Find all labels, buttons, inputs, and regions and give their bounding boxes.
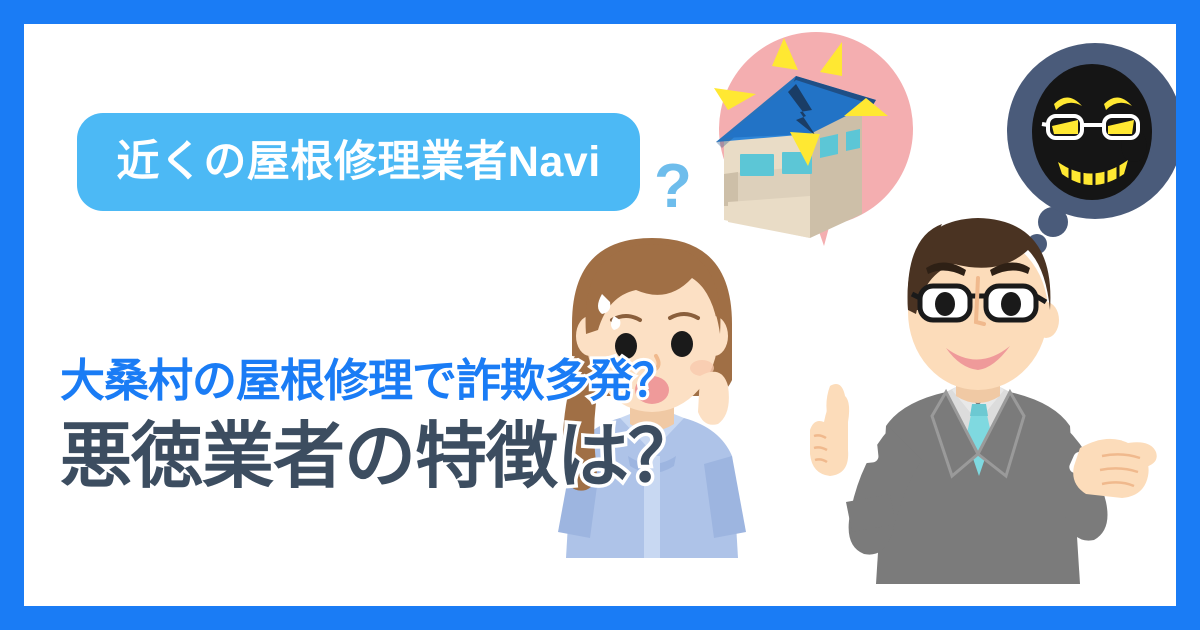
house-icon <box>714 38 888 238</box>
thumbnail-canvas: 近くの屋根修理業者Navi ? 大桑村の屋根修理で詐欺多発？ 悪徳業者の特徴は？ <box>0 0 1200 630</box>
site-badge[interactable]: 近くの屋根修理業者Navi <box>77 113 640 211</box>
explaining-businessman <box>810 218 1157 584</box>
headline-block: 大桑村の屋根修理で詐欺多発？ 悪徳業者の特徴は？ <box>60 356 820 495</box>
content-panel: 近くの屋根修理業者Navi ? 大桑村の屋根修理で詐欺多発？ 悪徳業者の特徴は？ <box>24 24 1176 606</box>
site-badge-label: 近くの屋根修理業者Navi <box>116 141 600 184</box>
background-illustration-layer <box>24 24 1176 606</box>
question-mark-decoration: ? <box>654 156 692 218</box>
shady-face-icon <box>1032 64 1152 200</box>
damaged-house-speech-bubble <box>714 32 913 246</box>
headline-title: 悪徳業者の特徴は？ <box>60 420 820 496</box>
headline-subtitle: 大桑村の屋根修理で詐欺多発？ <box>60 356 820 406</box>
glasses-icon <box>912 286 1046 320</box>
shady-contractor-thought-bubble <box>1007 43 1176 254</box>
open-hand-icon <box>1073 439 1157 498</box>
